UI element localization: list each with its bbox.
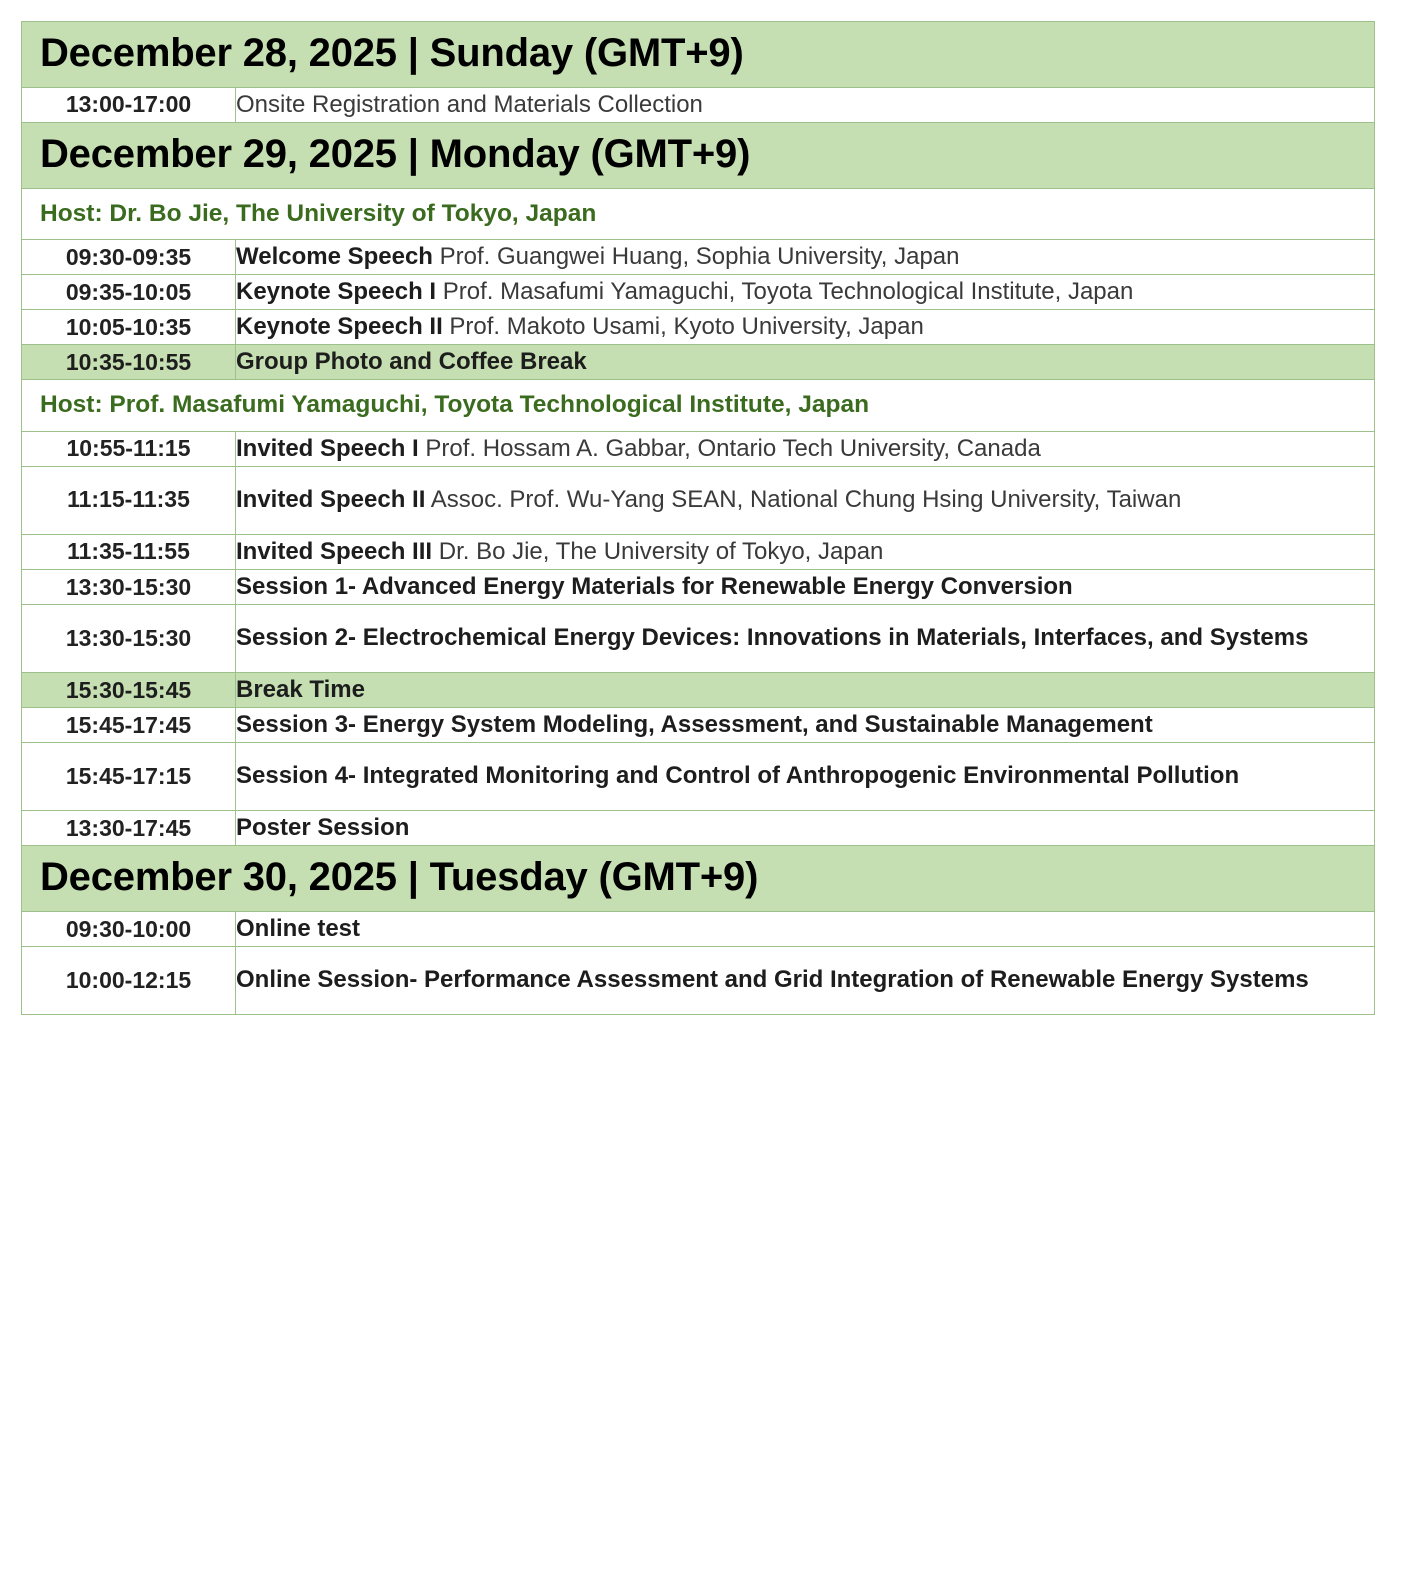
agenda-row: 10:55-11:15Invited Speech I Prof. Hossam…	[22, 431, 1375, 466]
agenda-time: 10:00-12:15	[22, 947, 236, 1015]
agenda-description: Keynote Speech II Prof. Makoto Usami, Ky…	[236, 310, 1375, 345]
agenda-description: Group Photo and Coffee Break	[236, 345, 1375, 380]
agenda-description: Invited Speech III Dr. Bo Jie, The Unive…	[236, 534, 1375, 569]
agenda-item-lead: Keynote Speech I	[236, 278, 436, 305]
agenda-row: 13:30-15:30Session 2- Electrochemical En…	[22, 605, 1375, 673]
agenda-page: December 28, 2025 | Sunday (GMT+9)13:00-…	[0, 0, 1407, 1591]
agenda-item-text: Session 1- Advanced Energy Materials for…	[236, 573, 1073, 600]
agenda-description: Invited Speech I Prof. Hossam A. Gabbar,…	[236, 431, 1375, 466]
agenda-description: Session 1- Advanced Energy Materials for…	[236, 570, 1375, 605]
agenda-row: 09:30-09:35Welcome Speech Prof. Guangwei…	[22, 240, 1375, 275]
host-label: Host: Dr. Bo Jie, The University of Toky…	[40, 199, 1356, 228]
day-banner-row: December 29, 2025 | Monday (GMT+9)	[22, 122, 1375, 188]
agenda-description: Poster Session	[236, 811, 1375, 846]
agenda-table: December 28, 2025 | Sunday (GMT+9)13:00-…	[21, 21, 1375, 1015]
day-banner-cell: December 30, 2025 | Tuesday (GMT+9)	[22, 846, 1375, 912]
day-banner-title: December 29, 2025 | Monday (GMT+9)	[40, 132, 1356, 177]
agenda-item-text: Assoc. Prof. Wu-Yang SEAN, National Chun…	[425, 486, 1181, 513]
agenda-row: 10:05-10:35Keynote Speech II Prof. Makot…	[22, 310, 1375, 345]
agenda-time: 13:30-15:30	[22, 605, 236, 673]
agenda-time: 11:15-11:35	[22, 466, 236, 534]
agenda-row: 11:35-11:55Invited Speech III Dr. Bo Jie…	[22, 534, 1375, 569]
agenda-description: Invited Speech II Assoc. Prof. Wu-Yang S…	[236, 466, 1375, 534]
agenda-description: Online test	[236, 912, 1375, 947]
agenda-time: 13:30-17:45	[22, 811, 236, 846]
day-banner-title: December 28, 2025 | Sunday (GMT+9)	[40, 31, 1356, 76]
agenda-row: 11:15-11:35Invited Speech II Assoc. Prof…	[22, 466, 1375, 534]
day-banner-row: December 30, 2025 | Tuesday (GMT+9)	[22, 846, 1375, 912]
agenda-item-text: Session 3- Energy System Modeling, Asses…	[236, 711, 1153, 738]
agenda-item-text: Session 4- Integrated Monitoring and Con…	[236, 762, 1239, 789]
agenda-row: 15:45-17:45Session 3- Energy System Mode…	[22, 708, 1375, 743]
agenda-row: 13:00-17:00Onsite Registration and Mater…	[22, 87, 1375, 122]
agenda-item-lead: Invited Speech II	[236, 486, 425, 513]
agenda-row: 09:35-10:05Keynote Speech I Prof. Masafu…	[22, 275, 1375, 310]
agenda-item-lead: Keynote Speech II	[236, 313, 443, 340]
agenda-time: 10:55-11:15	[22, 431, 236, 466]
agenda-description: Session 4- Integrated Monitoring and Con…	[236, 743, 1375, 811]
day-banner-cell: December 29, 2025 | Monday (GMT+9)	[22, 122, 1375, 188]
agenda-description: Session 3- Energy System Modeling, Asses…	[236, 708, 1375, 743]
day-banner-row: December 28, 2025 | Sunday (GMT+9)	[22, 22, 1375, 88]
agenda-description: Onsite Registration and Materials Collec…	[236, 87, 1375, 122]
agenda-description: Session 2- Electrochemical Energy Device…	[236, 605, 1375, 673]
agenda-description: Break Time	[236, 673, 1375, 708]
agenda-item-text: Prof. Masafumi Yamaguchi, Toyota Technol…	[436, 278, 1133, 305]
host-row: Host: Prof. Masafumi Yamaguchi, Toyota T…	[22, 380, 1375, 431]
agenda-item-text: Online Session- Performance Assessment a…	[236, 966, 1309, 993]
agenda-item-lead: Invited Speech III	[236, 538, 432, 565]
agenda-row: 13:30-15:30Session 1- Advanced Energy Ma…	[22, 570, 1375, 605]
agenda-item-text: Online test	[236, 915, 360, 942]
day-banner-cell: December 28, 2025 | Sunday (GMT+9)	[22, 22, 1375, 88]
agenda-item-text: Dr. Bo Jie, The University of Tokyo, Jap…	[432, 538, 883, 565]
day-banner-title: December 30, 2025 | Tuesday (GMT+9)	[40, 855, 1356, 900]
agenda-description: Keynote Speech I Prof. Masafumi Yamaguch…	[236, 275, 1375, 310]
agenda-row: 09:30-10:00Online test	[22, 912, 1375, 947]
agenda-description: Online Session- Performance Assessment a…	[236, 947, 1375, 1015]
agenda-row: 13:30-17:45Poster Session	[22, 811, 1375, 846]
agenda-description: Welcome Speech Prof. Guangwei Huang, Sop…	[236, 240, 1375, 275]
host-row: Host: Dr. Bo Jie, The University of Toky…	[22, 188, 1375, 239]
agenda-time: 09:30-10:00	[22, 912, 236, 947]
agenda-item-lead: Welcome Speech	[236, 243, 433, 270]
agenda-time: 13:00-17:00	[22, 87, 236, 122]
agenda-item-text: Group Photo and Coffee Break	[236, 348, 587, 375]
agenda-time: 09:35-10:05	[22, 275, 236, 310]
host-label: Host: Prof. Masafumi Yamaguchi, Toyota T…	[40, 390, 1356, 419]
agenda-time: 11:35-11:55	[22, 534, 236, 569]
agenda-item-lead: Invited Speech I	[236, 435, 419, 462]
agenda-time: 10:35-10:55	[22, 345, 236, 380]
agenda-item-text: Prof. Makoto Usami, Kyoto University, Ja…	[443, 313, 924, 340]
agenda-time: 10:05-10:35	[22, 310, 236, 345]
agenda-time: 13:30-15:30	[22, 570, 236, 605]
agenda-row: 10:35-10:55Group Photo and Coffee Break	[22, 345, 1375, 380]
agenda-time: 15:45-17:15	[22, 743, 236, 811]
agenda-row: 15:45-17:15Session 4- Integrated Monitor…	[22, 743, 1375, 811]
agenda-time: 09:30-09:35	[22, 240, 236, 275]
agenda-item-text: Prof. Guangwei Huang, Sophia University,…	[433, 243, 960, 270]
agenda-time: 15:30-15:45	[22, 673, 236, 708]
agenda-item-text: Poster Session	[236, 814, 409, 841]
agenda-row: 10:00-12:15Online Session- Performance A…	[22, 947, 1375, 1015]
agenda-item-text: Break Time	[236, 676, 365, 703]
host-cell: Host: Dr. Bo Jie, The University of Toky…	[22, 188, 1375, 239]
agenda-row: 15:30-15:45Break Time	[22, 673, 1375, 708]
agenda-item-text: Prof. Hossam A. Gabbar, Ontario Tech Uni…	[419, 435, 1041, 462]
host-cell: Host: Prof. Masafumi Yamaguchi, Toyota T…	[22, 380, 1375, 431]
agenda-time: 15:45-17:45	[22, 708, 236, 743]
agenda-item-text: Session 2- Electrochemical Energy Device…	[236, 624, 1308, 651]
agenda-item-text: Onsite Registration and Materials Collec…	[236, 91, 703, 118]
